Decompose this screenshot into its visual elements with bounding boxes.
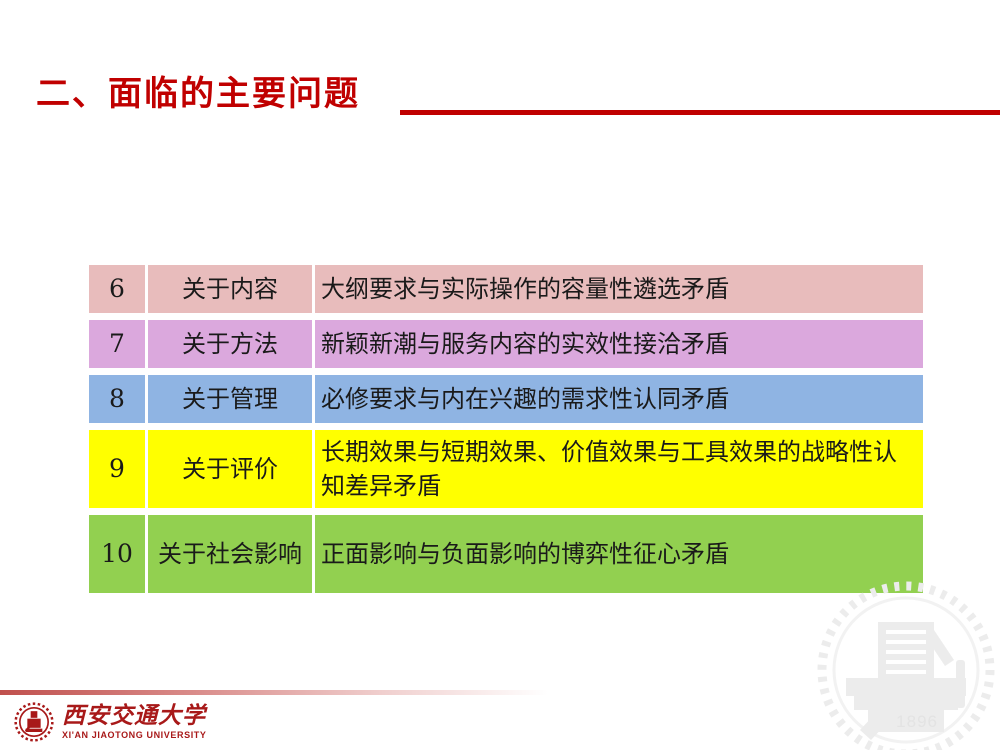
- row-description: 新颖新潮与服务内容的实效性接洽矛盾: [315, 320, 923, 368]
- row-topic: 关于内容: [148, 265, 312, 313]
- slide-canvas: 二、面临的主要问题 6 关于内容 大纲要求与实际操作的容量性遴选矛盾 7 关于方…: [0, 0, 1000, 750]
- problems-table: 6 关于内容 大纲要求与实际操作的容量性遴选矛盾 7 关于方法 新颖新潮与服务内…: [86, 258, 926, 600]
- row-description: 必修要求与内在兴趣的需求性认同矛盾: [315, 375, 923, 423]
- row-index: 8: [89, 375, 145, 423]
- row-topic: 关于评价: [148, 430, 312, 508]
- brand-name-cn: 西安交通大学: [62, 703, 207, 729]
- row-topic: 关于社会影响: [148, 515, 312, 593]
- university-logo: 西安交通大学 XI'AN JIAOTONG UNIVERSITY: [14, 702, 207, 742]
- table-row[interactable]: 7 关于方法 新颖新潮与服务内容的实效性接洽矛盾: [89, 320, 923, 368]
- university-seal-icon: [14, 702, 54, 742]
- table-row[interactable]: 6 关于内容 大纲要求与实际操作的容量性遴选矛盾: [89, 265, 923, 313]
- row-topic: 关于方法: [148, 320, 312, 368]
- row-topic: 关于管理: [148, 375, 312, 423]
- page-title: 二、面临的主要问题: [36, 72, 360, 116]
- table-row[interactable]: 8 关于管理 必修要求与内在兴趣的需求性认同矛盾: [89, 375, 923, 423]
- row-index: 7: [89, 320, 145, 368]
- row-description: 正面影响与负面影响的博弈性征心矛盾: [315, 515, 923, 593]
- table-row[interactable]: 10 关于社会影响 正面影响与负面影响的博弈性征心矛盾: [89, 515, 923, 593]
- row-description: 长期效果与短期效果、价值效果与工具效果的战略性认知差异矛盾: [315, 430, 923, 508]
- brand-wordmark-group: 西安交通大学 XI'AN JIAOTONG UNIVERSITY: [62, 703, 207, 741]
- row-description: 大纲要求与实际操作的容量性遴选矛盾: [315, 265, 923, 313]
- title-underline-rule: [400, 110, 1000, 115]
- problems-table-body: 6 关于内容 大纲要求与实际操作的容量性遴选矛盾 7 关于方法 新颖新潮与服务内…: [89, 265, 923, 593]
- row-index: 10: [89, 515, 145, 593]
- table-row[interactable]: 9 关于评价 长期效果与短期效果、价值效果与工具效果的战略性认知差异矛盾: [89, 430, 923, 508]
- watermark-year-label: 1896: [896, 712, 938, 732]
- university-emblem-watermark-icon: [816, 578, 996, 750]
- row-index: 6: [89, 265, 145, 313]
- brand-name-en: XI'AN JIAOTONG UNIVERSITY: [62, 729, 207, 741]
- footer-gradient-rule: [0, 690, 548, 695]
- row-index: 9: [89, 430, 145, 508]
